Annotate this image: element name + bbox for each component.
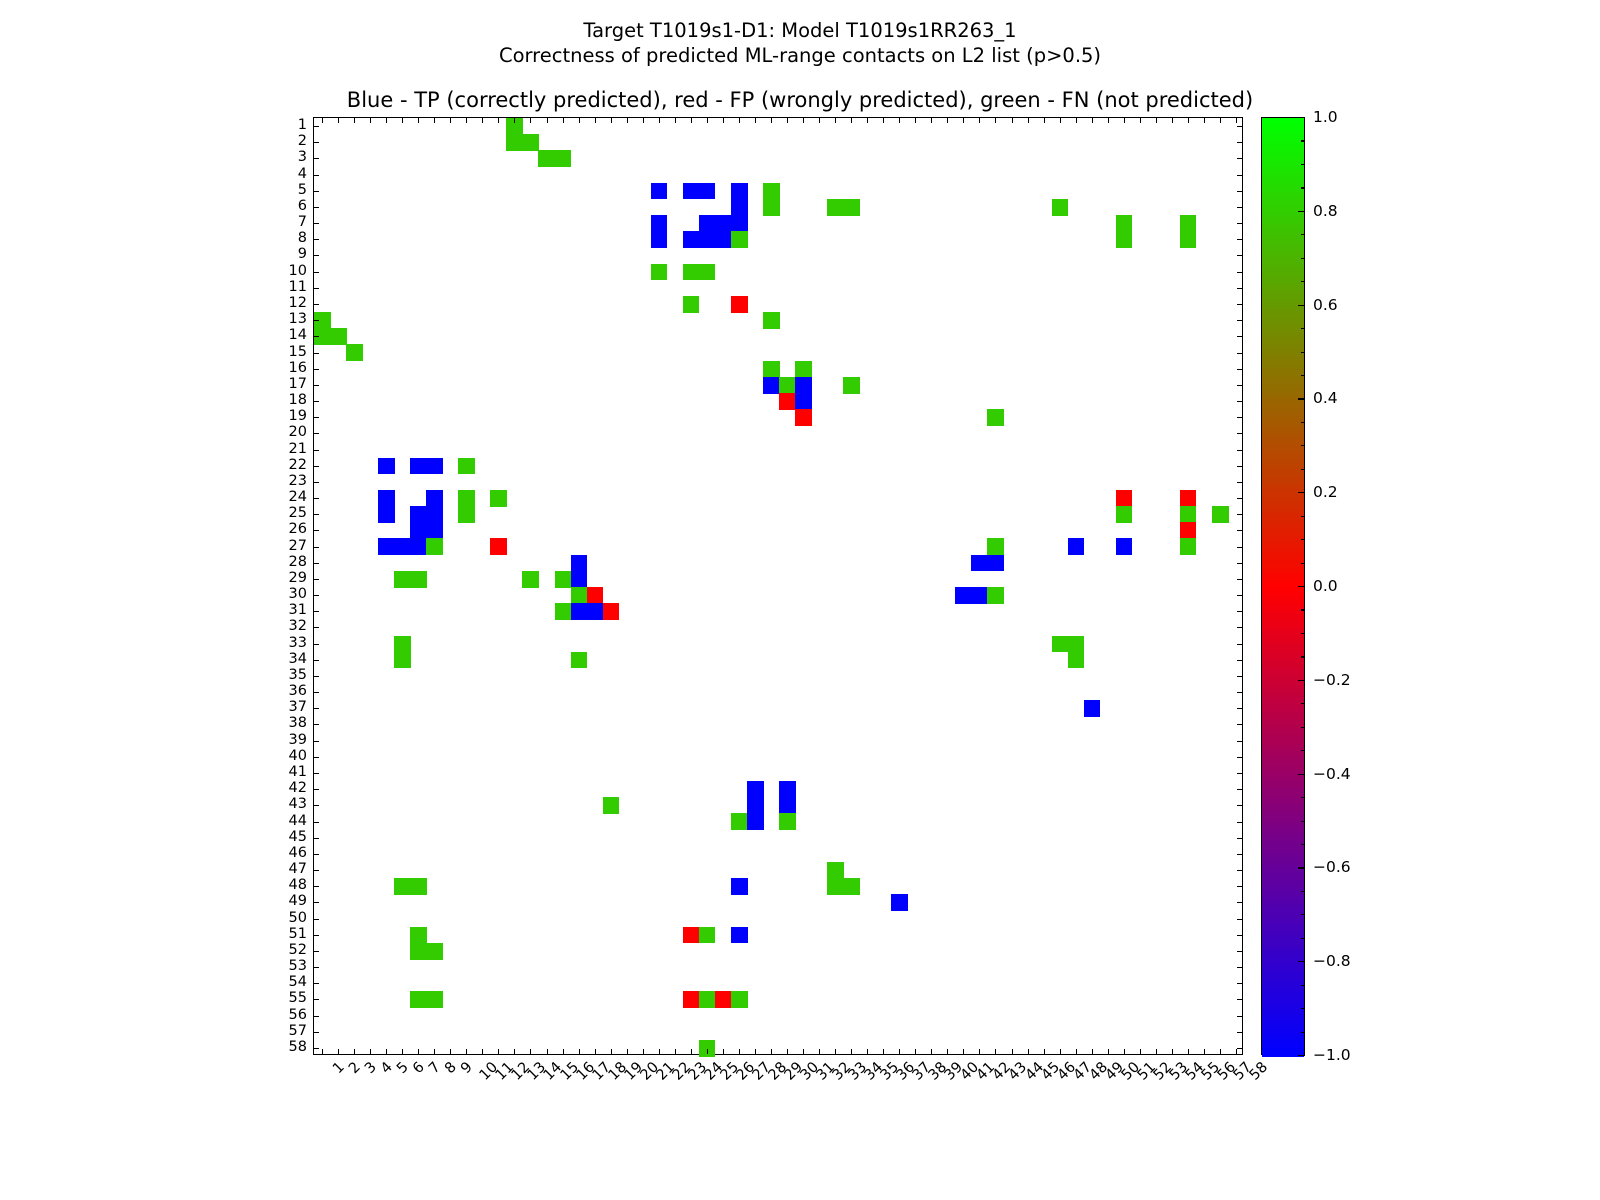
y-tick-label: 40 bbox=[289, 749, 307, 763]
x-axis-tick bbox=[995, 118, 996, 123]
contact-cell bbox=[571, 571, 588, 588]
y-axis-tick bbox=[314, 1048, 319, 1049]
y-axis-tick bbox=[314, 951, 319, 952]
contact-cell bbox=[1180, 538, 1197, 555]
y-axis-tick bbox=[314, 142, 319, 143]
x-axis-tick bbox=[883, 1049, 884, 1054]
y-axis-tick bbox=[1237, 304, 1242, 305]
y-tick-label: 2 bbox=[298, 134, 307, 148]
contact-cell bbox=[571, 652, 588, 669]
y-tick-label: 11 bbox=[289, 280, 307, 294]
contact-cell bbox=[1052, 199, 1069, 216]
contact-cell bbox=[651, 264, 668, 281]
y-axis-tick bbox=[1237, 1016, 1242, 1017]
y-axis-tick bbox=[1237, 757, 1242, 758]
x-axis-tick bbox=[1060, 118, 1061, 123]
contact-cell bbox=[1084, 700, 1101, 717]
contact-cell bbox=[987, 538, 1004, 555]
contact-cell bbox=[827, 862, 844, 879]
x-axis-tick bbox=[1092, 118, 1093, 123]
x-tick-label: 8 bbox=[443, 1060, 459, 1076]
y-axis-tick bbox=[314, 627, 319, 628]
y-tick-label: 32 bbox=[289, 619, 307, 633]
y-axis-tick bbox=[314, 369, 319, 370]
x-axis-tick bbox=[947, 1049, 948, 1054]
x-axis-tick bbox=[643, 118, 644, 123]
contact-cell bbox=[410, 878, 427, 895]
colorbar-minor-tick bbox=[1301, 305, 1305, 306]
y-axis-tick bbox=[1237, 935, 1242, 936]
x-tick-label: 5 bbox=[395, 1060, 411, 1076]
y-axis-tick bbox=[1237, 207, 1242, 208]
y-tick-label: 15 bbox=[289, 345, 307, 359]
colorbar-tick-label: 0.4 bbox=[1313, 391, 1338, 405]
y-axis-tick bbox=[314, 336, 319, 337]
contact-cell bbox=[763, 199, 780, 216]
y-axis-tick bbox=[1237, 886, 1242, 887]
x-axis-tick bbox=[675, 118, 676, 123]
x-axis-tick bbox=[1092, 1049, 1093, 1054]
x-axis-tick bbox=[915, 118, 916, 123]
colorbar-minor-tick bbox=[1301, 656, 1305, 657]
colorbar-minor-tick bbox=[1301, 797, 1305, 798]
y-axis-tick bbox=[314, 967, 319, 968]
x-axis-tick bbox=[627, 1049, 628, 1054]
contact-cell bbox=[506, 134, 523, 151]
contact-cell bbox=[683, 264, 700, 281]
x-axis-tick bbox=[787, 118, 788, 123]
y-axis-tick bbox=[1237, 158, 1242, 159]
x-axis-tick bbox=[883, 118, 884, 123]
x-axis-tick bbox=[514, 118, 515, 123]
x-axis-tick bbox=[963, 118, 964, 123]
x-axis-tick bbox=[1236, 1049, 1237, 1054]
x-axis-tick bbox=[434, 1049, 435, 1054]
contact-cell bbox=[795, 409, 812, 426]
x-axis-tick bbox=[1076, 1049, 1077, 1054]
y-axis-tick bbox=[1237, 741, 1242, 742]
contact-cell bbox=[699, 231, 716, 248]
contact-cell bbox=[394, 571, 411, 588]
y-axis-tick bbox=[1237, 676, 1242, 677]
y-axis-tick bbox=[1237, 1048, 1242, 1049]
contact-cell bbox=[1116, 231, 1133, 248]
y-axis-tick bbox=[314, 724, 319, 725]
contact-cell bbox=[763, 361, 780, 378]
x-axis-tick bbox=[1188, 1049, 1189, 1054]
contact-cell bbox=[522, 571, 539, 588]
y-axis-tick bbox=[314, 644, 319, 645]
y-axis-tick bbox=[1237, 239, 1242, 240]
contact-cell bbox=[1068, 538, 1085, 555]
contact-cell bbox=[1068, 652, 1085, 669]
contact-cell bbox=[731, 231, 748, 248]
x-axis-tick bbox=[579, 1049, 580, 1054]
contact-cell bbox=[651, 215, 668, 232]
contact-cell bbox=[394, 636, 411, 653]
y-tick-label: 55 bbox=[289, 991, 307, 1005]
contact-cell bbox=[955, 587, 972, 604]
x-axis-tick bbox=[771, 118, 772, 123]
colorbar-minor-tick bbox=[1301, 516, 1305, 517]
y-axis-tick bbox=[1237, 353, 1242, 354]
y-axis-tick bbox=[314, 450, 319, 451]
contact-cell bbox=[971, 587, 988, 604]
x-axis-tick bbox=[482, 1049, 483, 1054]
x-axis-tick bbox=[771, 1049, 772, 1054]
contact-cell bbox=[747, 813, 764, 830]
x-axis-tick bbox=[1156, 1049, 1157, 1054]
contact-cell bbox=[779, 377, 796, 394]
contact-cell bbox=[490, 538, 507, 555]
y-axis-tick bbox=[1237, 563, 1242, 564]
y-axis-tick bbox=[1237, 336, 1242, 337]
y-axis-tick bbox=[314, 498, 319, 499]
y-axis-tick bbox=[1237, 822, 1242, 823]
y-axis-tick bbox=[314, 320, 319, 321]
x-axis-tick bbox=[611, 1049, 612, 1054]
colorbar-tick-label: −1.0 bbox=[1313, 1048, 1351, 1062]
x-axis-tick bbox=[1204, 1049, 1205, 1054]
contact-cell bbox=[731, 813, 748, 830]
y-axis-tick-labels: 1234567891011121314151617181920212223242… bbox=[253, 117, 307, 1055]
y-tick-label: 49 bbox=[289, 894, 307, 908]
contact-cell bbox=[555, 571, 572, 588]
y-axis-tick bbox=[314, 692, 319, 693]
contact-cell bbox=[426, 538, 443, 555]
y-tick-label: 25 bbox=[289, 506, 307, 520]
y-axis-tick bbox=[1237, 660, 1242, 661]
y-tick-label: 30 bbox=[289, 587, 307, 601]
y-axis-tick bbox=[1237, 401, 1242, 402]
y-axis-tick bbox=[1237, 854, 1242, 855]
contact-cell bbox=[747, 781, 764, 798]
y-axis-tick bbox=[314, 530, 319, 531]
colorbar-minor-tick bbox=[1301, 117, 1305, 118]
x-axis-tick bbox=[691, 1049, 692, 1054]
contact-cell bbox=[843, 199, 860, 216]
contact-cell bbox=[394, 878, 411, 895]
x-axis-tick bbox=[819, 118, 820, 123]
x-axis-tick bbox=[547, 1049, 548, 1054]
contact-cell bbox=[731, 183, 748, 200]
y-axis-tick bbox=[1237, 530, 1242, 531]
x-axis-tick bbox=[402, 118, 403, 123]
contact-cell bbox=[779, 781, 796, 798]
y-axis-tick bbox=[1237, 708, 1242, 709]
y-axis-tick bbox=[314, 482, 319, 483]
contact-cell bbox=[683, 296, 700, 313]
y-axis-tick bbox=[314, 304, 319, 305]
x-axis-tick bbox=[386, 1049, 387, 1054]
y-tick-label: 9 bbox=[298, 247, 307, 261]
contact-cell bbox=[747, 797, 764, 814]
y-axis-tick bbox=[314, 870, 319, 871]
y-axis-tick bbox=[314, 563, 319, 564]
x-axis-tick bbox=[434, 118, 435, 123]
y-tick-label: 36 bbox=[289, 684, 307, 698]
y-tick-label: 1 bbox=[298, 118, 307, 132]
y-axis-tick bbox=[314, 983, 319, 984]
y-axis-tick bbox=[1237, 983, 1242, 984]
y-axis-tick bbox=[1237, 369, 1242, 370]
y-axis-tick bbox=[1237, 805, 1242, 806]
contact-cell bbox=[410, 991, 427, 1008]
colorbar-minor-tick bbox=[1301, 281, 1305, 282]
y-tick-label: 12 bbox=[289, 296, 307, 310]
contact-cell bbox=[683, 183, 700, 200]
contact-cell bbox=[571, 603, 588, 620]
colorbar-tick-label: −0.2 bbox=[1313, 673, 1351, 687]
y-axis-tick bbox=[1237, 450, 1242, 451]
x-axis-tick bbox=[547, 118, 548, 123]
y-axis-tick bbox=[1237, 951, 1242, 952]
y-tick-label: 44 bbox=[289, 814, 307, 828]
x-tick-label: 1 bbox=[331, 1060, 347, 1076]
contact-map-cells bbox=[314, 118, 1242, 1054]
contact-cell bbox=[827, 878, 844, 895]
x-axis-tick bbox=[595, 1049, 596, 1054]
x-axis-tick bbox=[867, 1049, 868, 1054]
colorbar-minor-tick bbox=[1301, 1055, 1305, 1056]
contact-cell bbox=[763, 377, 780, 394]
contact-map-plot-area[interactable] bbox=[313, 117, 1243, 1055]
y-tick-label: 48 bbox=[289, 878, 307, 892]
x-axis-tick bbox=[931, 118, 932, 123]
x-axis-tick bbox=[1108, 118, 1109, 123]
y-tick-label: 27 bbox=[289, 539, 307, 553]
x-axis-tick bbox=[995, 1049, 996, 1054]
x-axis-tick bbox=[627, 118, 628, 123]
contact-cell bbox=[843, 878, 860, 895]
x-axis-tick bbox=[1044, 118, 1045, 123]
y-axis-tick bbox=[1237, 272, 1242, 273]
y-tick-label: 14 bbox=[289, 328, 307, 342]
y-tick-label: 8 bbox=[298, 231, 307, 245]
colorbar-minor-tick bbox=[1301, 140, 1305, 141]
y-tick-label: 42 bbox=[289, 781, 307, 795]
contact-cell bbox=[538, 150, 555, 167]
y-tick-label: 50 bbox=[289, 911, 307, 925]
contact-cell bbox=[795, 377, 812, 394]
y-axis-tick bbox=[1237, 1032, 1242, 1033]
x-axis-tick bbox=[611, 118, 612, 123]
colorbar-tick-label: 1.0 bbox=[1313, 110, 1338, 124]
x-axis-tick bbox=[1156, 118, 1157, 123]
y-axis-tick bbox=[1237, 773, 1242, 774]
colorbar-minor-tick bbox=[1301, 539, 1305, 540]
x-axis-tick bbox=[1236, 118, 1237, 123]
x-axis-tick bbox=[482, 118, 483, 123]
contact-cell bbox=[410, 458, 427, 475]
x-axis-tick bbox=[595, 118, 596, 123]
x-axis-tick bbox=[530, 1049, 531, 1054]
y-axis-tick bbox=[1237, 838, 1242, 839]
y-axis-tick bbox=[314, 466, 319, 467]
colorbar-minor-tick bbox=[1301, 891, 1305, 892]
y-axis-tick bbox=[1237, 498, 1242, 499]
contact-cell bbox=[651, 231, 668, 248]
y-axis-tick bbox=[1237, 223, 1242, 224]
x-axis-tick bbox=[723, 1049, 724, 1054]
y-tick-label: 29 bbox=[289, 571, 307, 585]
x-axis-tick bbox=[675, 1049, 676, 1054]
y-axis-tick bbox=[314, 353, 319, 354]
y-axis-tick bbox=[314, 547, 319, 548]
x-axis-tick bbox=[803, 1049, 804, 1054]
contact-cell bbox=[779, 813, 796, 830]
y-axis-tick bbox=[314, 789, 319, 790]
contact-cell bbox=[394, 538, 411, 555]
contact-cell bbox=[378, 490, 395, 507]
y-axis-tick bbox=[1237, 870, 1242, 871]
x-axis-tick bbox=[1204, 118, 1205, 123]
x-axis-tick bbox=[659, 1049, 660, 1054]
x-axis-tick bbox=[579, 118, 580, 123]
y-tick-label: 43 bbox=[289, 797, 307, 811]
colorbar-tick-label: −0.6 bbox=[1313, 860, 1351, 874]
y-axis-tick bbox=[1237, 611, 1242, 612]
y-axis-tick bbox=[1237, 724, 1242, 725]
contact-cell bbox=[1052, 636, 1069, 653]
contact-cell bbox=[603, 797, 620, 814]
colorbar-minor-tick bbox=[1301, 938, 1305, 939]
contact-cell bbox=[715, 991, 732, 1008]
x-axis-tick bbox=[450, 118, 451, 123]
contact-cell bbox=[426, 943, 443, 960]
colorbar-minor-tick bbox=[1301, 727, 1305, 728]
contact-cell bbox=[1212, 506, 1229, 523]
x-axis-tick bbox=[1012, 1049, 1013, 1054]
x-axis-tick bbox=[851, 118, 852, 123]
x-tick-label: 7 bbox=[427, 1060, 443, 1076]
x-axis-tick bbox=[498, 118, 499, 123]
x-axis-tick bbox=[354, 1049, 355, 1054]
contact-cell bbox=[699, 264, 716, 281]
contact-cell bbox=[1116, 506, 1133, 523]
y-tick-label: 6 bbox=[298, 199, 307, 213]
y-tick-label: 56 bbox=[289, 1008, 307, 1022]
y-axis-tick bbox=[314, 741, 319, 742]
contact-cell bbox=[731, 927, 748, 944]
contact-cell bbox=[426, 506, 443, 523]
x-axis-tick bbox=[931, 1049, 932, 1054]
colorbar-minor-tick bbox=[1301, 164, 1305, 165]
y-axis-tick bbox=[314, 579, 319, 580]
contact-cell bbox=[1180, 506, 1197, 523]
x-axis-tick bbox=[1172, 118, 1173, 123]
colorbar-minor-tick bbox=[1301, 352, 1305, 353]
colorbar-minor-tick bbox=[1301, 914, 1305, 915]
contact-cell bbox=[603, 603, 620, 620]
y-axis-tick bbox=[314, 433, 319, 434]
x-axis-tick bbox=[418, 1049, 419, 1054]
x-axis-tick bbox=[370, 118, 371, 123]
y-tick-label: 51 bbox=[289, 927, 307, 941]
contact-cell bbox=[891, 894, 908, 911]
x-tick-label: 4 bbox=[379, 1060, 395, 1076]
x-axis-tick bbox=[1140, 118, 1141, 123]
x-axis-tick bbox=[1188, 118, 1189, 123]
x-axis-tick bbox=[979, 1049, 980, 1054]
contact-cell bbox=[987, 555, 1004, 572]
colorbar-minor-tick bbox=[1301, 211, 1305, 212]
x-axis-tick bbox=[723, 118, 724, 123]
y-tick-label: 37 bbox=[289, 700, 307, 714]
y-axis-tick bbox=[1237, 919, 1242, 920]
y-tick-label: 58 bbox=[289, 1040, 307, 1054]
y-axis-tick bbox=[314, 239, 319, 240]
colorbar-tick-label: 0.2 bbox=[1313, 485, 1338, 499]
x-axis-tick bbox=[1140, 1049, 1141, 1054]
colorbar-tick-label: −0.8 bbox=[1313, 954, 1351, 968]
y-axis-tick bbox=[314, 886, 319, 887]
x-axis-tick bbox=[707, 118, 708, 123]
contact-cell bbox=[571, 555, 588, 572]
y-axis-tick bbox=[314, 126, 319, 127]
colorbar-minor-tick bbox=[1301, 234, 1305, 235]
y-axis-tick bbox=[1237, 417, 1242, 418]
y-axis-tick bbox=[314, 1016, 319, 1017]
contact-cell bbox=[715, 215, 732, 232]
x-axis-tick bbox=[514, 1049, 515, 1054]
y-axis-tick bbox=[314, 191, 319, 192]
y-tick-label: 41 bbox=[289, 765, 307, 779]
contact-cell bbox=[699, 215, 716, 232]
y-axis-tick bbox=[314, 676, 319, 677]
x-axis-tick bbox=[835, 1049, 836, 1054]
colorbar-minor-tick bbox=[1301, 445, 1305, 446]
y-axis-tick bbox=[1237, 175, 1242, 176]
contact-cell bbox=[971, 555, 988, 572]
x-axis-tick bbox=[322, 1049, 323, 1054]
y-axis-tick bbox=[1237, 191, 1242, 192]
contact-cell bbox=[699, 991, 716, 1008]
x-axis-tick bbox=[867, 118, 868, 123]
x-axis-tick bbox=[707, 1049, 708, 1054]
y-tick-label: 10 bbox=[289, 264, 307, 278]
x-axis-tick bbox=[1220, 118, 1221, 123]
y-axis-tick bbox=[314, 757, 319, 758]
x-axis-tick bbox=[787, 1049, 788, 1054]
y-tick-label: 20 bbox=[289, 425, 307, 439]
figure-suptitle: Target T1019s1-D1: Model T1019s1RR263_1 … bbox=[0, 18, 1600, 68]
colorbar-minor-tick bbox=[1301, 187, 1305, 188]
contact-cell bbox=[731, 296, 748, 313]
y-axis-tick bbox=[1237, 466, 1242, 467]
x-axis-tick bbox=[402, 1049, 403, 1054]
y-tick-label: 45 bbox=[289, 830, 307, 844]
colorbar-minor-tick bbox=[1301, 375, 1305, 376]
x-axis-tick bbox=[563, 118, 564, 123]
y-axis-tick bbox=[314, 401, 319, 402]
colorbar-minor-tick bbox=[1301, 1032, 1305, 1033]
contact-cell bbox=[1180, 231, 1197, 248]
x-axis-tick bbox=[803, 118, 804, 123]
contact-cell bbox=[410, 538, 427, 555]
colorbar-minor-tick bbox=[1301, 821, 1305, 822]
x-axis-tick bbox=[1172, 1049, 1173, 1054]
y-axis-tick bbox=[314, 838, 319, 839]
y-axis-tick bbox=[314, 595, 319, 596]
contact-cell bbox=[410, 506, 427, 523]
y-tick-label: 3 bbox=[298, 150, 307, 164]
x-tick-label: 2 bbox=[347, 1060, 363, 1076]
x-axis-tick bbox=[947, 118, 948, 123]
y-tick-label: 28 bbox=[289, 555, 307, 569]
x-tick-label: 6 bbox=[411, 1060, 427, 1076]
contact-cell bbox=[987, 587, 1004, 604]
